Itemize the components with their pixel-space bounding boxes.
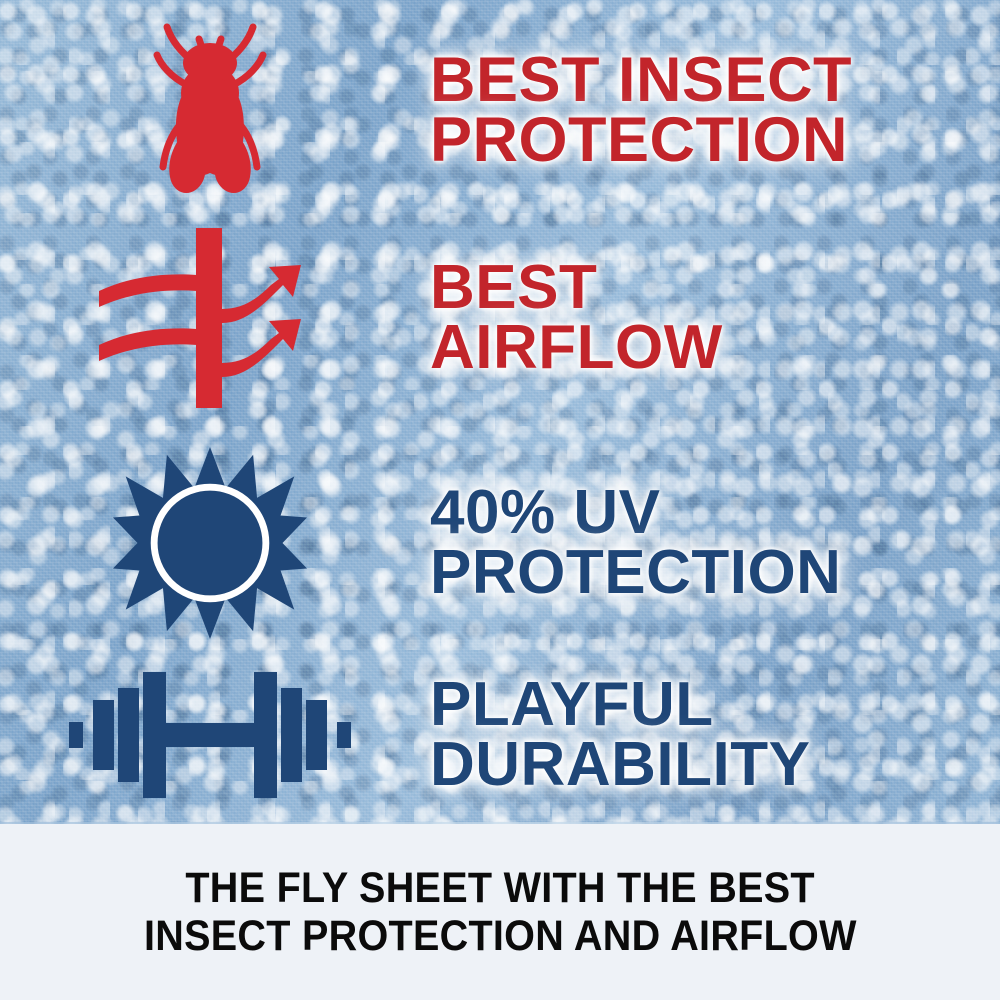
feature-label-line2: PROTECTION — [430, 110, 1000, 170]
feature-label-line2: PROTECTION — [430, 543, 1000, 603]
feature-label-airflow: BEST AIRFLOW — [430, 258, 1000, 377]
feature-label-line1: BEST INSECT — [430, 50, 1000, 110]
feature-text-slot: PLAYFUL DURABILITY — [420, 675, 1000, 794]
feature-icon-slot — [0, 660, 420, 810]
feature-label-line1: 40% UV — [430, 483, 1000, 543]
feature-label-durability: PLAYFUL DURABILITY — [430, 675, 1000, 794]
feature-label-line2: AIRFLOW — [430, 318, 1000, 378]
feature-label-uv-protection: 40% UV PROTECTION — [430, 483, 1000, 602]
feature-label-line1: BEST — [430, 258, 1000, 318]
feature-label-line1: PLAYFUL — [430, 675, 1000, 735]
product-feature-poster: BEST INSECT PROTECTION — [0, 0, 1000, 1000]
fly-icon — [135, 15, 285, 205]
feature-row-durability: PLAYFUL DURABILITY — [0, 652, 1000, 817]
sun-uv-icon — [112, 445, 308, 641]
feature-row-uv-protection: 40% UV PROTECTION — [0, 440, 1000, 645]
feature-text-slot: BEST AIRFLOW — [420, 258, 1000, 377]
feature-row-insect-protection: BEST INSECT PROTECTION — [0, 10, 1000, 210]
feature-text-slot: 40% UV PROTECTION — [420, 483, 1000, 602]
feature-label-line2: DURABILITY — [430, 735, 1000, 795]
airflow-icon — [93, 223, 328, 413]
feature-list: BEST INSECT PROTECTION — [0, 0, 1000, 824]
feature-icon-slot — [0, 223, 420, 413]
feature-icon-slot — [0, 15, 420, 205]
feature-text-slot: BEST INSECT PROTECTION — [420, 50, 1000, 171]
feature-label-insect-protection: BEST INSECT PROTECTION — [430, 50, 1000, 171]
caption-bar: THE FLY SHEET WITH THE BEST INSECT PROTE… — [0, 824, 1000, 1000]
feature-row-airflow: BEST AIRFLOW — [0, 218, 1000, 418]
caption-line-2: INSECT PROTECTION AND AIRFLOW — [144, 912, 857, 960]
feature-icon-slot — [0, 445, 420, 641]
caption-line-1: THE FLY SHEET WITH THE BEST — [185, 864, 814, 912]
dumbbell-icon — [65, 660, 355, 810]
